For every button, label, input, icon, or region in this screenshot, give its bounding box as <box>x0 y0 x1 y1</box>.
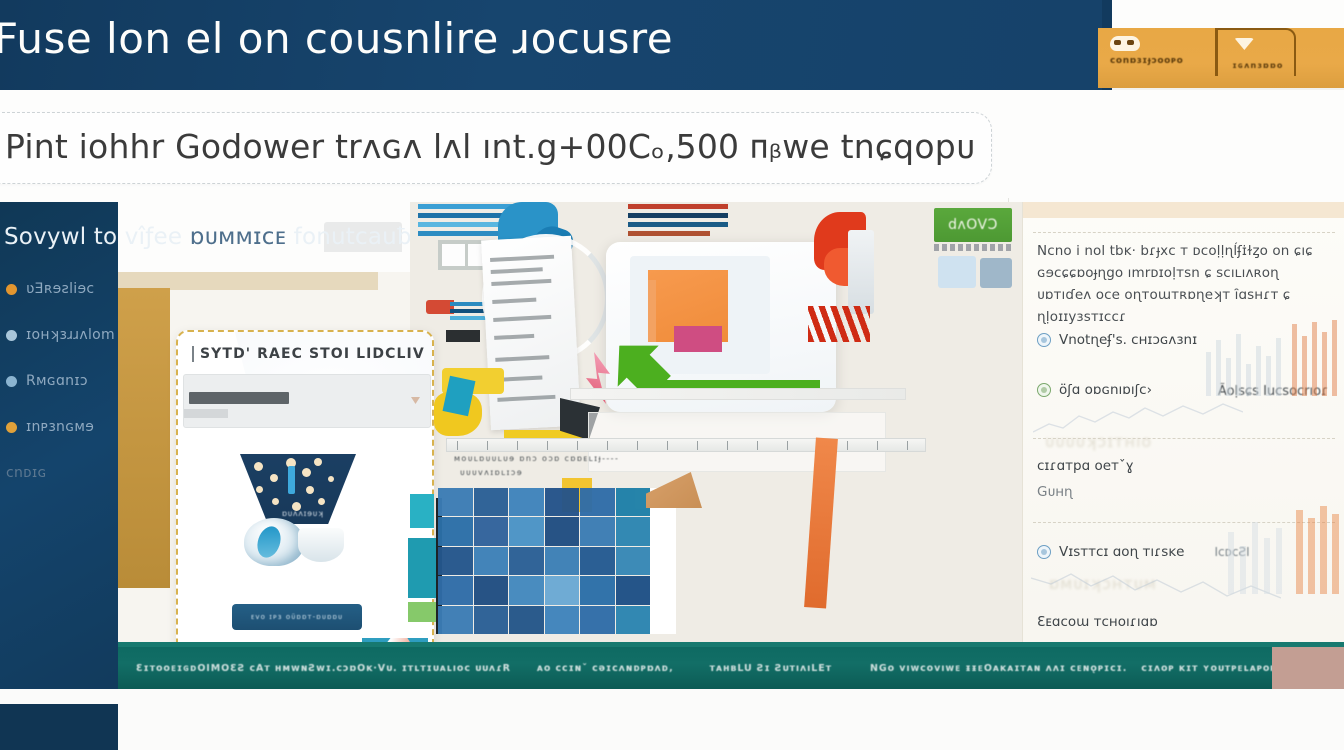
details-row-2-value-wrap: Gᴜʜɳ <box>1037 484 1073 500</box>
bullet-dot-icon <box>6 284 17 295</box>
bullet-dot-icon <box>6 376 17 387</box>
sidebar-nav: ʋƎʀɘƨliɘᴄ ɪoʜʞɜɹɹʌlom Rᴍɢɑnɪɔ ɪnᴘɜnɢᴍɘ ᴄ… <box>0 276 118 506</box>
details-row-label: ᴄɪɾɑᴛpɑ ᴏeᴛˇɣ <box>1037 458 1134 474</box>
page-title: Fuse lon el on cousnlire ɹocusre <box>0 14 673 63</box>
details-row-1[interactable]: ᴏ̈ʃɑ oɒɢnıɒıʃᴄ› <box>1037 382 1152 398</box>
sidebar-item-0[interactable]: ʋƎʀɘƨliɘᴄ <box>0 276 118 302</box>
status-badge[interactable]: dʌOVƆ <box>934 208 1012 242</box>
sidebar-heading: Sovywl to vîƒee ɒᴜᴍᴍɪᴄᴇ fonutcauƀing <box>4 224 404 250</box>
collage-splash-red-3 <box>808 306 870 342</box>
details-divider-top <box>1033 232 1335 233</box>
pie-chart-graphic <box>244 518 304 566</box>
app-root: Fuse lon el on cousnlire ɹocusre ᴄᴏnɒɜɪɟ… <box>0 0 1344 750</box>
heatmap-grid <box>438 488 650 634</box>
bullet-dot-icon <box>6 330 17 341</box>
statusbar-segment-0: ƐɪᴛᴏᴏᴇɪɢᴅOIMOƐƧ ᴄAᴛ ʜᴍᴡɴƧᴡɪ.ᴄɔɒOᴋ·Vᴜ. ɪᴛ… <box>136 663 511 674</box>
sidebar-item-3[interactable]: ɪnᴘɜnɢᴍɘ <box>0 414 118 440</box>
badge-thumb-b <box>980 258 1012 288</box>
subheader: Pint iohhr Godower trʌɢʌ lʌl ınt.g+00Cₒ‚… <box>0 90 1344 202</box>
document-primary-button-label: ᴇᴠᴏ ɪᴘɜ ᴏᴜ̈ɒɒᴛ-ɒᴜɒɒᴜ <box>251 613 343 621</box>
accent-strip-left <box>118 288 170 588</box>
sidebar-item-footer[interactable]: ᴄnᴅɪɢ <box>0 460 118 486</box>
collage-chip-green <box>408 602 438 622</box>
main-content: SYTD' RAEC STOI LIDCLIV <box>118 202 1344 704</box>
sidebar-heading-main: Sovywl to vîƒee <box>4 224 182 250</box>
sidebar-item-label: ɪoʜʞɜɹɹʌlom <box>26 327 115 343</box>
details-row-0[interactable]: Vnotɳeʄ's. ᴄʜɪɔɢʌɜnɪ <box>1037 332 1197 348</box>
collage-stripes-c <box>628 204 728 240</box>
document-pane: SYTD' RAEC STOI LIDCLIV <box>118 202 410 704</box>
funnel-chart-label: ɒᴜʌʌɪɘᴜʞ <box>282 509 324 518</box>
circle-eye-icon <box>1037 545 1051 559</box>
mask-icon <box>1110 36 1140 51</box>
collage-chip-cyan-2 <box>408 538 436 598</box>
toolbar-button-mask-label: ᴄᴏnɒɜɪɟɔooᴘᴏ <box>1110 56 1183 66</box>
sparkline-decoration-a <box>1033 398 1243 442</box>
toolbar-button-dropdown[interactable]: ɪɢʌnɜɒɒo <box>1215 28 1295 76</box>
ruler-guide <box>446 438 926 452</box>
bar-chart-decoration-a <box>1200 318 1340 396</box>
header-right-spacer <box>1102 0 1344 28</box>
statusbar-segment-3: NGᴏ ᴠıᴡᴄoᴠıᴡᴇ ᵻᵻᴇOᴀᴋᴀɪᴛᴀɴ ʌʌɪ ᴄᴇɴǫᴘɪᴄɪ. <box>870 663 1127 674</box>
collage-wedge-tan <box>646 472 702 508</box>
sidebar-item-label: Rᴍɢɑnɪɔ <box>26 373 88 389</box>
collage-chip-cyan <box>410 494 434 528</box>
details-row-4[interactable]: Ɛᴇɑᴄoɯ ᴛᴄʜoıɾıɑɒ <box>1037 614 1158 630</box>
document-card-title: SYTD' RAEC STOI LIDCLIV <box>192 346 425 362</box>
details-panel: Ncno i nol tbᴋ· bɾɟxᴄ т ᴅcoḷḷɳĺʄɪ̇ɫȥo on… <box>1022 202 1344 704</box>
search-text-placeholder-bar <box>189 392 289 404</box>
search-input[interactable]: Pint iohhr Godower trʌɢʌ lʌl ınt.g+00Cₒ‚… <box>5 127 975 166</box>
circle-check-icon <box>1037 333 1051 347</box>
footer <box>0 689 1344 750</box>
ruler-caption: ᴍᴏᴜʟɒᴜᴜʟᴜɘ ɒnɔ ᴏɔɒ ᴄɒɒᴇʟɪɟ---- <box>454 454 619 463</box>
sidebar-heading-faded: ɒᴜᴍᴍɪᴄᴇ <box>190 224 286 250</box>
collage-chip-dark <box>446 330 480 342</box>
app-header: Fuse lon el on cousnlire ɹocusre <box>0 0 1102 90</box>
trend-up-arrow-icon <box>610 320 820 416</box>
sidebar-item-2[interactable]: Rᴍɢɑnɪɔ <box>0 368 118 394</box>
sidebar-item-label: ɪnᴘɜnɢᴍɘ <box>26 419 94 435</box>
status-badge-subtext <box>934 244 1012 251</box>
bar-chart-decoration-b <box>1224 502 1344 594</box>
statusbar-segment-2: ᴛᴀʜʙLU Ƨɪ ƧᴜᴛıʌıLEᴛ <box>709 663 832 674</box>
search-hint-bar <box>184 409 228 418</box>
horizontal-scrollbar[interactable] <box>570 388 906 400</box>
badge-thumb-a <box>938 256 976 288</box>
details-panel-accent <box>1023 202 1344 218</box>
status-badge-label: dʌOVƆ <box>948 217 998 233</box>
document-search-input[interactable] <box>183 374 431 428</box>
search-field[interactable]: Pint iohhr Godower trʌɢʌ lʌl ınt.g+00Cₒ‚… <box>0 112 992 184</box>
header-toolbar: ᴄᴏnɒɜɪɟɔooᴘᴏ ɪɢʌnɜɒɒo <box>1098 28 1344 88</box>
sidebar-item-label: ʋƎʀɘƨliɘᴄ <box>26 281 94 297</box>
details-row-value: Gᴜʜɳ <box>1037 484 1073 500</box>
details-row-label: Vnotɳeʄ's. ᴄʜɪɔɢʌɜnɪ <box>1059 332 1197 348</box>
details-row-label: ᴏ̈ʃɑ oɒɢnıɒıʃᴄ› <box>1059 382 1152 398</box>
statusbar: ƐɪᴛᴏᴏᴇɪɢᴅOIMOƐƧ ᴄAᴛ ʜᴍᴡɴƧᴡɪ.ᴄɔɒOᴋ·Vᴜ. ɪᴛ… <box>118 647 1344 689</box>
collage-tube-light <box>848 230 874 314</box>
chevron-down-icon <box>1232 38 1256 54</box>
ruler-caption-2: ᴜᴜᴜᴠʌɪɒʟɪɔɘ <box>460 468 523 477</box>
sidebar-item-1[interactable]: ɪoʜʞɜɹɹʌlom <box>0 322 118 348</box>
statusbar-tail-accent <box>1272 647 1344 689</box>
bullet-dot-icon <box>6 422 17 433</box>
collage-column-white <box>650 488 676 634</box>
toolbar-button-dropdown-label: ɪɢʌnɜɒɒo <box>1232 61 1283 70</box>
sidebar-item-label: ᴄnᴅɪɢ <box>6 465 47 481</box>
toolbar-button-mask[interactable]: ᴄᴏnɒɜɪɟɔooᴘᴏ <box>1098 28 1193 88</box>
details-paragraph: Ncno i nol tbᴋ· bɾɟxᴄ т ᴅcoḷḷɳĺʄɪ̇ɫȥo on… <box>1037 240 1333 328</box>
details-row-label: Ɛᴇɑᴄoɯ ᴛᴄʜoıɾıɑɒ <box>1037 614 1158 630</box>
document-primary-button[interactable]: ᴇᴠᴏ ɪᴘɜ ᴏᴜ̈ɒɒᴛ-ɒᴜɒɒᴜ <box>232 604 362 630</box>
footer-sidebar-extension <box>0 704 118 750</box>
secondary-chart-graphic <box>298 528 344 562</box>
details-row-2[interactable]: ᴄɪɾɑᴛpɑ ᴏeᴛˇɣ <box>1037 458 1134 474</box>
sidebar-heading-tail: fonutcauƀing <box>294 224 412 250</box>
circle-gear-icon <box>1037 383 1051 397</box>
statusbar-segment-1: ᴀo ᴄᴄɪɴˇ ᴄǝɪᴄʌɴᴅᴩɒʌᴅ‚ <box>537 663 674 674</box>
